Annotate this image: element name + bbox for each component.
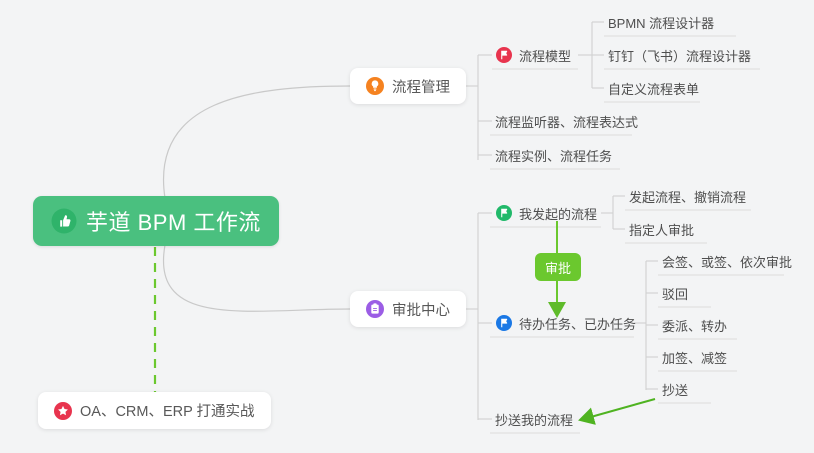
flag-icon (496, 205, 512, 221)
clipboard-icon (366, 300, 384, 318)
node-label: 会签、或签、依次审批 (662, 252, 792, 271)
node-label: 自定义流程表单 (608, 79, 699, 98)
node-process-model[interactable]: 流程模型 (492, 42, 577, 68)
node-label: 流程实例、流程任务 (495, 146, 612, 165)
branch-label: 流程管理 (392, 76, 450, 97)
root-label: 芋道 BPM 工作流 (86, 205, 261, 237)
branch-approval-center[interactable]: 审批中心 (350, 291, 466, 327)
node-process-listener[interactable]: 流程监听器、流程表达式 (491, 108, 644, 134)
node-label: 流程模型 (519, 46, 571, 65)
node-my-initiated[interactable]: 我发起的流程 (492, 200, 603, 226)
annotation-approval-tag: 审批 (535, 253, 581, 281)
node-label: 钉钉（飞书）流程设计器 (608, 46, 751, 65)
node-label: BPMN 流程设计器 (608, 13, 714, 32)
flag-icon (496, 315, 512, 331)
node-label: 加签、减签 (662, 348, 727, 367)
branch-label: 审批中心 (392, 299, 450, 320)
node-custom-process-form[interactable]: 自定义流程表单 (604, 75, 705, 101)
node-label: 流程监听器、流程表达式 (495, 112, 638, 131)
mindmap-canvas: 芋道 BPM 工作流 流程管理 流程模型 BPMN 流程设计器 钉钉（飞书）流程… (0, 0, 814, 453)
node-process-instance[interactable]: 流程实例、流程任务 (491, 142, 618, 168)
node-assignee-approval[interactable]: 指定人审批 (625, 216, 700, 242)
node-start-cancel-process[interactable]: 发起流程、撤销流程 (625, 183, 752, 209)
link-root-to-approval-center (163, 245, 350, 311)
node-label: 待办任务、已办任务 (519, 314, 636, 333)
star-icon (54, 402, 72, 420)
thumbs-up-icon (51, 208, 77, 234)
node-label: 驳回 (662, 284, 688, 303)
node-label: 抄送我的流程 (495, 410, 573, 429)
node-add-remove-sign[interactable]: 加签、减签 (658, 344, 733, 370)
node-cc-to-me[interactable]: 抄送我的流程 (491, 406, 579, 432)
node-reject[interactable]: 驳回 (658, 280, 694, 306)
node-bpmn-designer[interactable]: BPMN 流程设计器 (604, 9, 720, 35)
note-label: OA、CRM、ERP 打通实战 (80, 400, 255, 421)
node-todo-done-tasks[interactable]: 待办任务、已办任务 (492, 310, 642, 336)
node-label: 委派、转办 (662, 316, 727, 335)
note-integration[interactable]: OA、CRM、ERP 打通实战 (38, 392, 271, 429)
branch-process-management[interactable]: 流程管理 (350, 68, 466, 104)
flag-icon (496, 47, 512, 63)
node-label: 抄送 (662, 380, 688, 399)
node-dingtalk-feishu-designer[interactable]: 钉钉（飞书）流程设计器 (604, 42, 757, 68)
annotation-label: 审批 (545, 258, 571, 277)
node-cc[interactable]: 抄送 (658, 376, 694, 402)
root-node[interactable]: 芋道 BPM 工作流 (33, 196, 279, 246)
arrow-cc-to-ccme (580, 399, 655, 420)
link-root-to-process-management (163, 86, 350, 198)
node-countersign[interactable]: 会签、或签、依次审批 (658, 248, 798, 274)
node-label: 我发起的流程 (519, 204, 597, 223)
node-label: 发起流程、撤销流程 (629, 187, 746, 206)
lightbulb-icon (366, 77, 384, 95)
node-label: 指定人审批 (629, 220, 694, 239)
node-delegate-transfer[interactable]: 委派、转办 (658, 312, 733, 338)
